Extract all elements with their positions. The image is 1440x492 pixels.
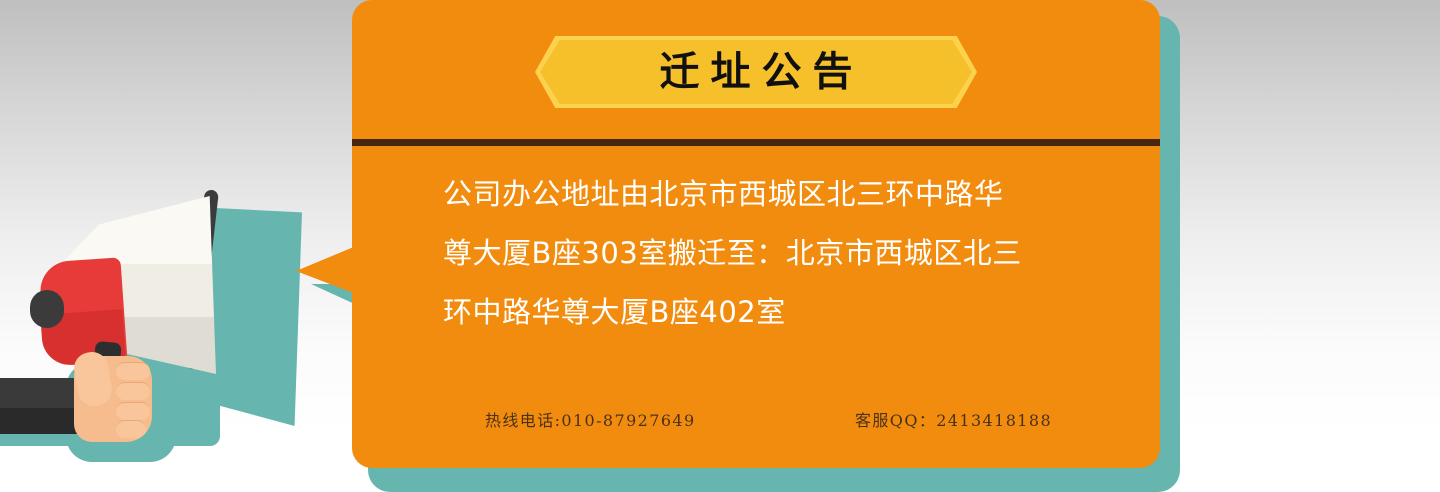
megaphone-illustration bbox=[0, 186, 330, 492]
customer-service-qq-text: 客服QQ：2413418188 bbox=[855, 408, 1052, 434]
hand-finger-shape bbox=[116, 420, 146, 438]
notice-body-line: 环中路华尊大厦B座402室 bbox=[443, 283, 1089, 342]
notice-title-banner: 迁址公告 bbox=[535, 36, 977, 108]
notice-title: 迁址公告 bbox=[535, 36, 977, 108]
hand-finger-shape bbox=[116, 362, 150, 380]
megaphone-knob-icon bbox=[30, 290, 64, 328]
header-divider bbox=[352, 139, 1160, 146]
hotline-phone-text: 热线电话:010-87927649 bbox=[485, 408, 696, 434]
notice-footer: 热线电话:010-87927649 客服QQ：2413418188 bbox=[352, 408, 1160, 438]
megaphone-cone-band-light bbox=[58, 196, 216, 264]
announcement-banner-stage: 迁址公告 公司办公地址由北京市西城区北三环中路华 尊大厦B座303室搬迁至：北京… bbox=[0, 0, 1440, 492]
notice-body-line: 公司办公地址由北京市西城区北三环中路华 bbox=[443, 165, 1089, 224]
notice-body: 公司办公地址由北京市西城区北三环中路华 尊大厦B座303室搬迁至：北京市西城区北… bbox=[443, 165, 1089, 342]
notice-body-line: 尊大厦B座303室搬迁至：北京市西城区北三 bbox=[443, 224, 1089, 283]
hand-finger-shape bbox=[116, 402, 150, 420]
hand-finger-shape bbox=[116, 382, 150, 400]
